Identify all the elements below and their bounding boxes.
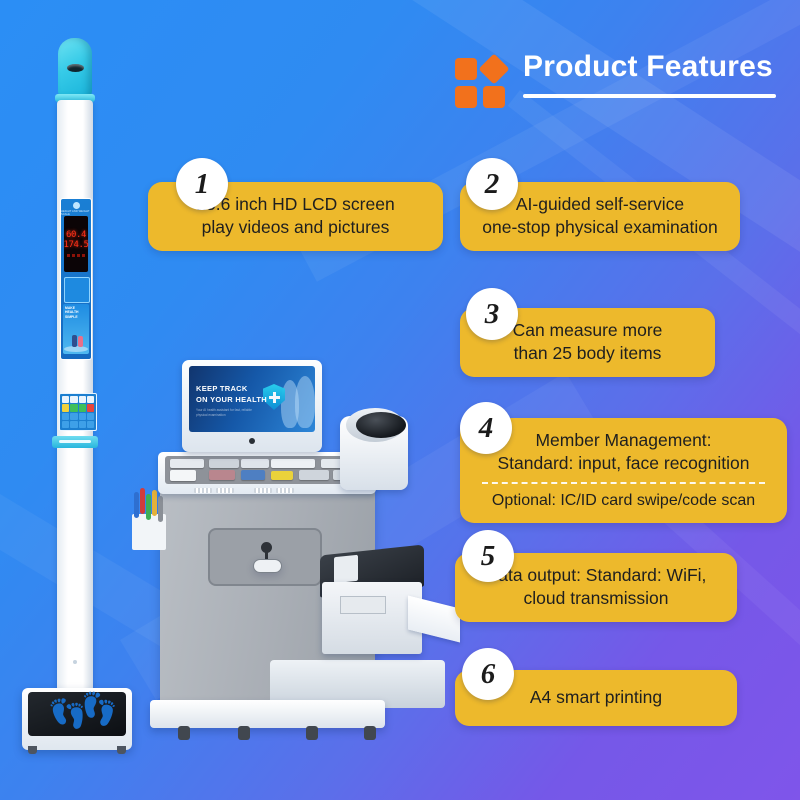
panel-info-box — [64, 277, 90, 303]
tower-display-panel: HEIGHT AND WEIGHT SCALE 60.4 174.5 MAKE … — [60, 198, 92, 360]
ultrasonic-sensor-icon — [58, 38, 92, 98]
caster-wheel — [306, 726, 318, 740]
feature-number: 6 — [481, 660, 496, 689]
printer-lid — [334, 555, 358, 584]
panel-person-right-icon — [78, 336, 83, 347]
panel-illustration-ground — [64, 346, 88, 352]
caster-wheel — [364, 726, 376, 740]
feature-number-badge-2: 2 — [466, 158, 518, 210]
panel-illustration: MAKE HEALTH SIMPLE — [63, 304, 89, 354]
feature-number-badge-3: 3 — [466, 288, 518, 340]
header: Product Features — [455, 50, 775, 120]
feature-number: 2 — [485, 170, 500, 199]
camera-icon — [249, 438, 255, 444]
feature-number-badge-6: 6 — [462, 648, 514, 700]
infographic-canvas: HEIGHT AND WEIGHT SCALE 60.4 174.5 MAKE … — [0, 0, 800, 800]
kiosk-plinth — [150, 700, 385, 728]
blood-pressure-cuff-icon — [340, 408, 412, 500]
feature-number-badge-5: 5 — [462, 530, 514, 582]
monitor-headline-line1: KEEP TRACK — [196, 384, 267, 395]
health-kiosk: KEEP TRACK ON YOUR HEALTH Your AI health… — [120, 360, 460, 770]
printer-slot-icon — [52, 436, 98, 448]
cuff-arm-opening — [356, 412, 406, 438]
device-tray-insert — [165, 456, 363, 484]
brand-glyph-icon — [73, 202, 80, 209]
printer-label — [340, 596, 386, 614]
id-card-reader-icon — [250, 542, 282, 572]
led-readout: 60.4 174.5 — [64, 216, 88, 272]
scale-foot — [28, 746, 37, 754]
monitor-subtext: Your AI health assistant for fast, relia… — [196, 408, 252, 418]
monitor-screen: KEEP TRACK ON YOUR HEALTH Your AI health… — [189, 366, 315, 432]
four-squares-logo-icon — [455, 56, 511, 108]
feature-number-badge-4: 4 — [460, 402, 512, 454]
feature-divider — [482, 482, 765, 484]
cable-pocket — [128, 488, 170, 550]
led-indicator-dots — [67, 254, 85, 257]
monitor-headline: KEEP TRACK ON YOUR HEALTH — [196, 384, 267, 406]
height-weight-tower: HEIGHT AND WEIGHT SCALE 60.4 174.5 MAKE … — [52, 38, 98, 718]
feature-line: one-stop physical examination — [476, 216, 724, 239]
feature-line: than 25 body items — [476, 342, 699, 365]
led-weight-value: 60.4 — [66, 231, 86, 240]
scale-platform: 👣 👣 — [28, 692, 126, 736]
feature-number-badge-1: 1 — [176, 158, 228, 210]
cabinet-access-panel — [208, 528, 322, 586]
page-title: Product Features — [523, 50, 773, 84]
feature-number: 3 — [485, 300, 500, 329]
kiosk-monitor: KEEP TRACK ON YOUR HEALTH Your AI health… — [182, 360, 322, 452]
feature-line: play videos and pictures — [164, 216, 427, 239]
panel-tagline: MAKE HEALTH SIMPLE — [65, 306, 89, 319]
tower-indicator-dot — [73, 660, 77, 664]
led-height-value: 174.5 — [63, 241, 88, 250]
tower-keypad — [59, 393, 97, 431]
scale-base: 👣 👣 — [22, 688, 132, 750]
feature-line: cloud transmission — [471, 587, 721, 610]
footprints-icon: 👣 — [79, 693, 119, 727]
cuff-rim — [346, 408, 404, 442]
feature-number: 1 — [195, 170, 210, 199]
logo-square-top-left — [455, 58, 477, 80]
monitor-headline-line2: ON YOUR HEALTH — [196, 395, 267, 406]
logo-square-bottom-left — [455, 86, 477, 108]
feature-line: Standard: input, face recognition — [476, 452, 771, 475]
logo-square-bottom-right — [483, 86, 505, 108]
feature-number: 4 — [479, 414, 494, 443]
title-underline — [523, 94, 776, 98]
a4-printer-icon — [316, 550, 428, 660]
sensor-eye-icon — [67, 64, 84, 72]
feature-footnote: Optional: IC/ID card swipe/code scan — [476, 491, 771, 512]
printer-body — [322, 582, 422, 654]
panel-person-left-icon — [72, 335, 77, 347]
caster-wheel — [238, 726, 250, 740]
logo-diamond-top-right — [478, 53, 509, 84]
feature-number: 5 — [481, 542, 496, 571]
monitor-person-photo — [295, 376, 315, 428]
caster-wheel — [178, 726, 190, 740]
panel-brand-mark: HEIGHT AND WEIGHT SCALE — [61, 202, 91, 216]
feature-line: Member Management: — [476, 429, 771, 452]
